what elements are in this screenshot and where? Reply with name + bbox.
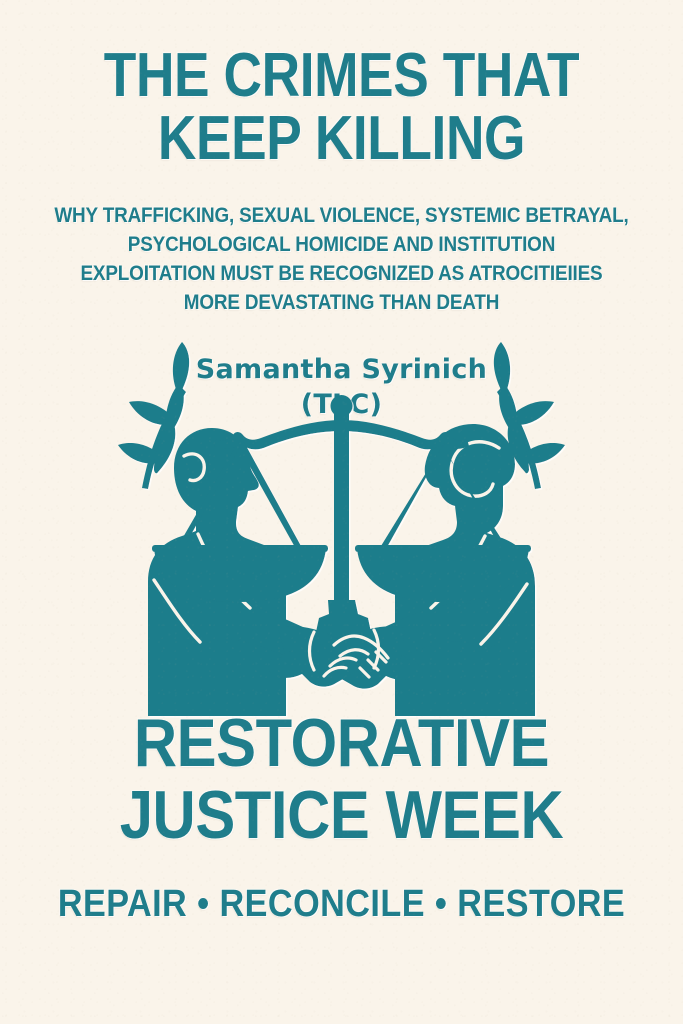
handshake-scales-illustration	[78, 336, 605, 726]
book-cover: THE CRIMES THAT KEEP KILLING WHY TRAFFIC…	[0, 0, 683, 1024]
event-title-line-2: JUSTICE WEEK	[41, 779, 642, 851]
page-title: THE CRIMES THAT KEEP KILLING	[0, 44, 683, 170]
subtitle-line-3: EXPLOITATION MUST BE RECOGNIZED AS ATROC…	[41, 259, 642, 288]
subtitle: WHY TRAFFICKING, SEXUAL VIOLENCE, SYSTEM…	[0, 201, 683, 317]
title-line-1: THE CRIMES THAT	[48, 44, 635, 107]
title-line-2: KEEP KILLING	[48, 107, 635, 170]
event-title-line-1: RESTORATIVE	[41, 707, 642, 779]
event-title: RESTORATIVE JUSTICE WEEK	[0, 707, 683, 851]
subtitle-line-4: MORE DEVASTATING THAN DEATH	[41, 288, 642, 317]
cover-illustration	[78, 336, 605, 726]
tagline: REPAIR • RECONCILE • RESTORE	[34, 883, 649, 925]
subtitle-line-1: WHY TRAFFICKING, SEXUAL VIOLENCE, SYSTEM…	[41, 201, 642, 230]
subtitle-line-2: PSYCHOLOGICAL HOMICIDE AND INSTITUTION	[41, 230, 642, 259]
